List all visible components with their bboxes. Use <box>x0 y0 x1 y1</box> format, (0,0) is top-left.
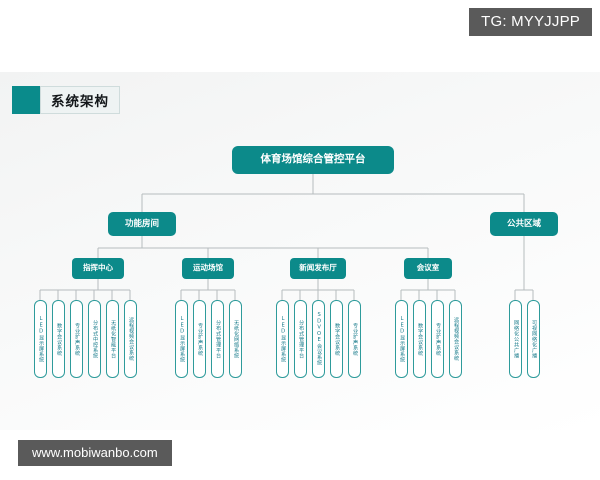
leaf-item[interactable]: LED显示屏系统 <box>395 300 408 378</box>
node-functional-rooms[interactable]: 功能房间 <box>108 212 176 236</box>
leaf-item[interactable]: 网络化公共广播 <box>509 300 522 378</box>
leaf-item[interactable]: 可视网络化广播 <box>527 300 540 378</box>
slide-canvas: 系统架构 <box>0 72 600 430</box>
leaf-item[interactable]: 数字会议系统 <box>330 300 343 378</box>
node-meeting-room[interactable]: 会议室 <box>404 258 452 279</box>
leaf-label: 专业扩声系统 <box>197 323 202 356</box>
leaf-item[interactable]: 分布式中控系统 <box>88 300 101 378</box>
bottom-left-watermark: www.mobiwanbo.com <box>18 440 172 466</box>
leaf-item[interactable]: SDVOE会议系统 <box>312 300 325 378</box>
leaf-label: 分布式管理平台 <box>298 320 303 359</box>
leaf-item[interactable]: 专业扩声系统 <box>70 300 83 378</box>
leaf-label: LED显示屏系统 <box>280 316 285 362</box>
leaf-label: 网络化公共广播 <box>513 320 518 359</box>
leaf-item[interactable]: 无纸化智能平台 <box>106 300 119 378</box>
node-root[interactable]: 体育场馆综合管控平台 <box>232 146 394 174</box>
node-public-area[interactable]: 公共区域 <box>490 212 558 236</box>
leaf-item[interactable]: 专业扩声系统 <box>348 300 361 378</box>
leaf-label: 可视网络化广播 <box>531 320 536 359</box>
leaf-item[interactable]: 数字会议系统 <box>52 300 65 378</box>
leaf-label: 数字会议系统 <box>417 323 422 356</box>
leaf-item[interactable]: 专业扩声系统 <box>431 300 444 378</box>
leaf-label: 专业扩声系统 <box>352 323 357 356</box>
leaf-label: LED显示屏系统 <box>179 316 184 362</box>
leaf-item[interactable]: 分布式管理平台 <box>294 300 307 378</box>
leaf-label: LED显示屏系统 <box>399 316 404 362</box>
leaf-item[interactable]: 无纸化网络系统 <box>229 300 242 378</box>
leaf-item[interactable]: LED显示屏系统 <box>34 300 47 378</box>
node-command-center[interactable]: 指挥中心 <box>72 258 124 279</box>
top-right-watermark: TG: MYYJJPP <box>469 8 592 36</box>
leaf-item[interactable]: 数字会议系统 <box>413 300 426 378</box>
node-sports-venue[interactable]: 运动场馆 <box>182 258 234 279</box>
leaf-item[interactable]: 远程视频会议系统 <box>124 300 137 378</box>
leaf-item[interactable]: 远程视频会议系统 <box>449 300 462 378</box>
leaf-label: 数字会议系统 <box>334 323 339 356</box>
leaf-label: 远程视频会议系统 <box>128 317 133 361</box>
leaf-item[interactable]: 分布式管理平台 <box>211 300 224 378</box>
leaf-label: 分布式管理平台 <box>215 320 220 359</box>
leaf-item[interactable]: LED显示屏系统 <box>276 300 289 378</box>
leaf-item[interactable]: LED显示屏系统 <box>175 300 188 378</box>
leaf-label: 无纸化网络系统 <box>233 320 238 359</box>
leaf-label: 数字会议系统 <box>56 323 61 356</box>
node-press-hall[interactable]: 新闻发布厅 <box>290 258 346 279</box>
leaf-label: 分布式中控系统 <box>92 320 97 359</box>
leaf-label: SDVOE会议系统 <box>316 312 321 366</box>
leaf-label: 无纸化智能平台 <box>110 320 115 359</box>
leaf-label: 专业扩声系统 <box>74 323 79 356</box>
leaf-label: 专业扩声系统 <box>435 323 440 356</box>
leaf-label: LED显示屏系统 <box>38 316 43 362</box>
leaf-label: 远程视频会议系统 <box>453 317 458 361</box>
leaf-item[interactable]: 专业扩声系统 <box>193 300 206 378</box>
